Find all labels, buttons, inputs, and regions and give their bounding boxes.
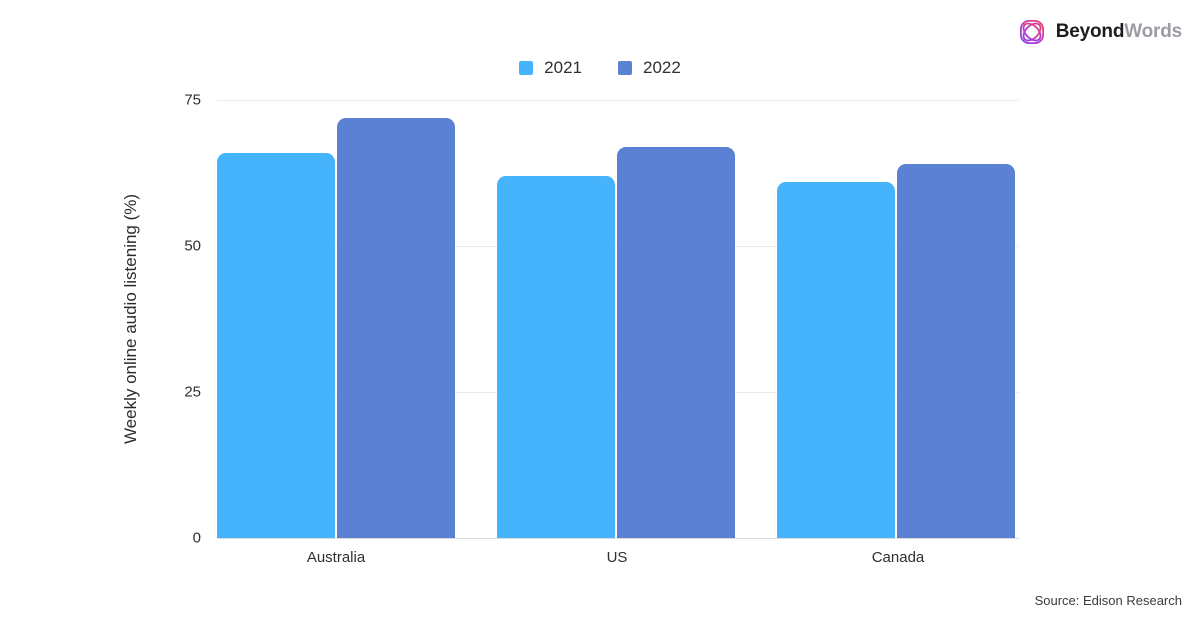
y-axis-title-label: Weekly online audio listening (%) [121,194,141,444]
bar-australia-2021[interactable] [217,153,335,538]
legend-swatch-2022 [618,61,632,75]
plot-area [217,100,1019,538]
x-axis-baseline [217,538,1019,539]
bar-us-2022[interactable] [617,147,735,538]
bar-us-2021[interactable] [497,176,615,538]
y-axis-title: Weekly online audio listening (%) [118,100,144,538]
legend-label-2022: 2022 [643,58,681,78]
y-tick-label-0: 0 [155,530,201,547]
brand-name-primary: Beyond [1056,21,1124,42]
legend-swatch-2021 [519,61,533,75]
chart-page: BeyondWords 2021 2022 Weekly online audi… [0,0,1200,622]
y-tick-label-25: 25 [155,384,201,401]
legend-item-2022[interactable]: 2022 [618,58,681,78]
bar-australia-2022[interactable] [337,118,455,538]
x-tick-label-us: US [607,549,628,566]
brand-wordmark: BeyondWords [1056,21,1182,43]
y-tick-label-50: 50 [155,238,201,255]
gridline-75 [217,100,1019,101]
x-tick-label-australia: Australia [307,549,365,566]
bar-canada-2022[interactable] [897,164,1015,538]
beyondwords-atom-logo-icon [1017,17,1047,47]
brand-logo: BeyondWords [1017,17,1182,47]
legend-label-2021: 2021 [544,58,582,78]
source-note: Source: Edison Research [1035,593,1182,608]
y-tick-label-75: 75 [155,92,201,109]
x-tick-label-canada: Canada [872,549,925,566]
bar-canada-2021[interactable] [777,182,895,538]
legend-item-2021[interactable]: 2021 [519,58,582,78]
chart-legend: 2021 2022 [0,58,1200,78]
brand-name-secondary: Words [1124,21,1182,42]
